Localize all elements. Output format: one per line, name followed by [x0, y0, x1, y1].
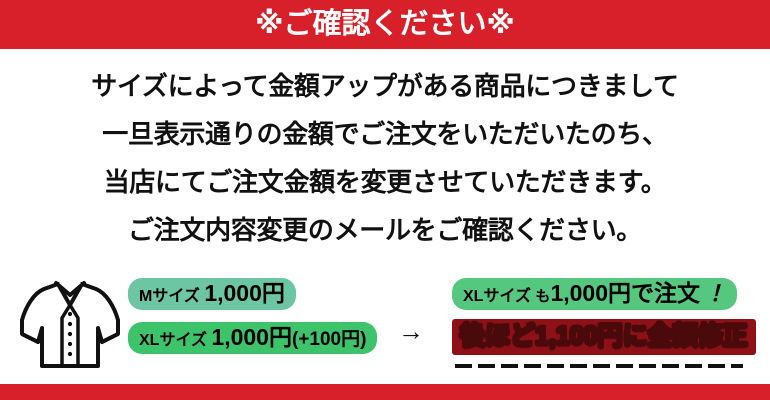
notice-line-3: 当店にてご注文金額を変更させていただきます。 — [0, 158, 770, 206]
order-note-size: XLサイズ — [463, 288, 531, 305]
price-correction-box: 後ほど1,100円に金額修正 後ほど1,100円に金額修正 — [452, 319, 756, 355]
order-note-particle: も — [535, 288, 550, 305]
price-pill-m-price: 1,000円 — [204, 280, 285, 306]
notice-line-4: ご注文内容変更のメールをご確認ください。 — [0, 206, 770, 254]
order-note-suffix: で注文 — [631, 280, 700, 306]
price-pill-m: Mサイズ 1,000円 — [128, 278, 296, 310]
order-note-pill: XLサイズ も1,000円で注文！ — [452, 278, 737, 310]
header-title: ※ご確認ください※ — [255, 10, 514, 39]
order-note-price: 1,000円 — [550, 280, 631, 306]
price-pill-m-size: Mサイズ — [139, 288, 200, 305]
header-bar: ※ご確認ください※ — [0, 0, 770, 49]
notice-line-1: サイズによって金額アップがある商品につきまして — [0, 62, 770, 110]
footer-bar — [0, 384, 770, 400]
dashed-underline — [455, 364, 743, 368]
right-arrow-icon: → — [398, 318, 424, 344]
notice-banner: ※ご確認ください※ サイズによって金額アップがある商品につきまして 一旦表示通り… — [0, 0, 770, 400]
price-comparison-area: Mサイズ 1,000円 XLサイズ 1,000円(+100円) → XLサイズ … — [0, 268, 770, 380]
price-pill-xl: XLサイズ 1,000円(+100円) — [128, 322, 377, 354]
notice-line-2: 一旦表示通りの金額でご注文をいただいたのち、 — [0, 110, 770, 158]
order-note-exclaim: ！ — [700, 281, 726, 306]
price-pill-xl-surcharge: (+100円) — [292, 329, 366, 350]
notice-body: サイズによって金額アップがある商品につきまして 一旦表示通りの金額でご注文をいた… — [0, 62, 770, 254]
dress-shirt-icon — [18, 274, 122, 372]
after-price-column: XLサイズ も1,000円で注文！ 後ほど1,100円に金額修正 後ほど1,10… — [452, 278, 752, 355]
price-pill-xl-size: XLサイズ — [139, 332, 207, 349]
before-price-column: Mサイズ 1,000円 XLサイズ 1,000円(+100円) — [128, 278, 390, 354]
price-pill-xl-price: 1,000円 — [211, 324, 292, 350]
price-correction-text: 後ほど1,100円に金額修正 — [460, 322, 748, 350]
